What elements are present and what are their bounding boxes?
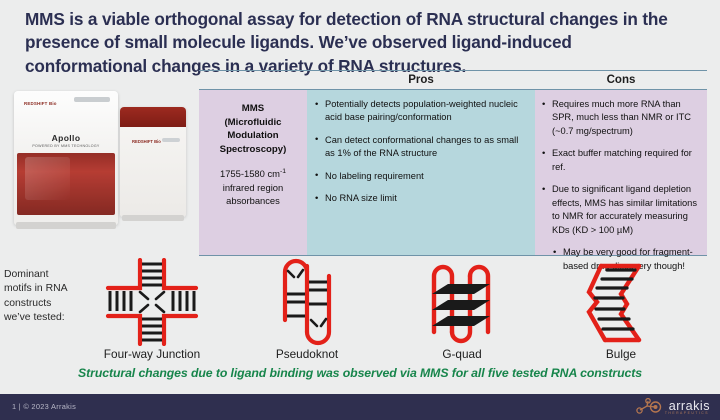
list-item: No RNA size limit xyxy=(314,192,526,205)
motifs-intro-line-4: we’ve tested: xyxy=(4,311,96,325)
motifs-intro-line-1: Dominant xyxy=(4,268,96,282)
bulge-icon xyxy=(575,258,667,346)
mms-wavenumber-line: 1755-1580 cm-1 xyxy=(205,167,301,180)
instrument-photo: REDSHIFT Bio Apollo POWERED BY MMS TECHN… xyxy=(8,83,196,249)
device-apollo: REDSHIFT Bio Apollo POWERED BY MMS TECHN… xyxy=(14,91,118,225)
list-item: Can detect conformational changes to as … xyxy=(314,134,526,161)
list-item: Potentially detects population-weighted … xyxy=(314,98,526,125)
mms-name-line-2: (Microfluidic xyxy=(205,116,301,130)
g-quad-icon xyxy=(418,258,506,346)
table-header-cons: Cons xyxy=(535,71,707,89)
mms-wavenumber-exponent: -1 xyxy=(280,168,286,175)
list-item: Exact buffer matching required for ref. xyxy=(541,147,701,174)
mms-wavenumber: 1755-1580 cm xyxy=(220,169,280,180)
device-secondary: REDSHIFT Bio xyxy=(120,107,186,217)
list-item: No labeling requirement xyxy=(314,170,526,183)
motif-pseudoknot: Pseudoknot xyxy=(259,258,355,361)
redshift-brand-label-2: REDSHIFT Bio xyxy=(132,139,161,144)
footer-page-copyright: 1 | © 2023 Arrakis xyxy=(12,402,76,411)
slide-canvas: MMS is a viable orthogonal assay for det… xyxy=(0,0,720,420)
device-name-label: Apollo xyxy=(14,133,118,143)
pros-list: Potentially detects population-weighted … xyxy=(314,98,526,206)
list-item: Due to significant ligand depletion effe… xyxy=(541,183,701,237)
motifs-intro-line-2: motifs in RNA xyxy=(4,282,96,296)
logo-subtitle: THERAPEUTICS xyxy=(665,411,709,415)
table-body-row: MMS (Microfluidic Modulation Spectroscop… xyxy=(199,89,707,256)
motif-bulge: Bulge xyxy=(575,258,667,361)
device-secondary-base xyxy=(122,215,184,221)
motifs-intro-label: Dominant motifs in RNA constructs we’ve … xyxy=(4,268,96,325)
summary-banner: Structural changes due to ligand binding… xyxy=(0,366,720,380)
motif-label: Pseudoknot xyxy=(259,347,355,361)
motif-label: Four-way Junction xyxy=(96,347,208,361)
device-window xyxy=(17,153,115,215)
mms-subtext-line-2: infrared region xyxy=(205,181,301,194)
device-top-strip xyxy=(74,97,110,102)
mms-subtext-line-3: absorbances xyxy=(205,194,301,207)
table-header-row: Pros Cons xyxy=(199,70,707,89)
device-secondary-strip xyxy=(162,138,180,142)
motif-g-quad: G-quad xyxy=(418,258,506,361)
device-tagline-label: POWERED BY MMS TECHNOLOGY xyxy=(14,144,118,148)
mms-name-line-3: Modulation xyxy=(205,129,301,143)
mms-name-line-1: MMS xyxy=(205,102,301,116)
slide-footer: 1 | © 2023 Arrakis arrakis THERAPEUTICS xyxy=(0,394,720,420)
mms-subtext: 1755-1580 cm-1 infrared region absorbanc… xyxy=(205,167,301,207)
pseudoknot-icon xyxy=(259,258,355,346)
pros-cons-table: Pros Cons MMS (Microfluidic Modulation S… xyxy=(199,70,707,256)
mms-name-line-4: Spectroscopy) xyxy=(205,143,301,157)
molecule-icon xyxy=(635,398,665,415)
page-title: MMS is a viable orthogonal assay for det… xyxy=(25,8,697,78)
table-header-pros: Pros xyxy=(307,71,535,89)
motif-four-way-junction: Four-way Junction xyxy=(96,258,208,361)
redshift-brand-label: REDSHIFT Bio xyxy=(24,101,57,106)
motif-label: Bulge xyxy=(575,347,667,361)
arrakis-logo: arrakis THERAPEUTICS xyxy=(635,398,710,415)
table-cell-cons: Requires much more RNA than SPR, much le… xyxy=(535,90,707,255)
cons-list: Requires much more RNA than SPR, much le… xyxy=(541,98,701,237)
list-item: Requires much more RNA than SPR, much le… xyxy=(541,98,701,138)
table-cell-mms: MMS (Microfluidic Modulation Spectroscop… xyxy=(199,90,307,255)
mms-name: MMS (Microfluidic Modulation Spectroscop… xyxy=(205,102,301,156)
table-header-spacer xyxy=(199,71,307,89)
table-cell-pros: Potentially detects population-weighted … xyxy=(307,90,535,255)
motifs-intro-line-3: constructs xyxy=(4,297,96,311)
device-secondary-cap xyxy=(120,107,186,127)
device-base xyxy=(16,222,116,229)
four-way-junction-icon xyxy=(96,258,208,346)
motif-label: G-quad xyxy=(418,347,506,361)
